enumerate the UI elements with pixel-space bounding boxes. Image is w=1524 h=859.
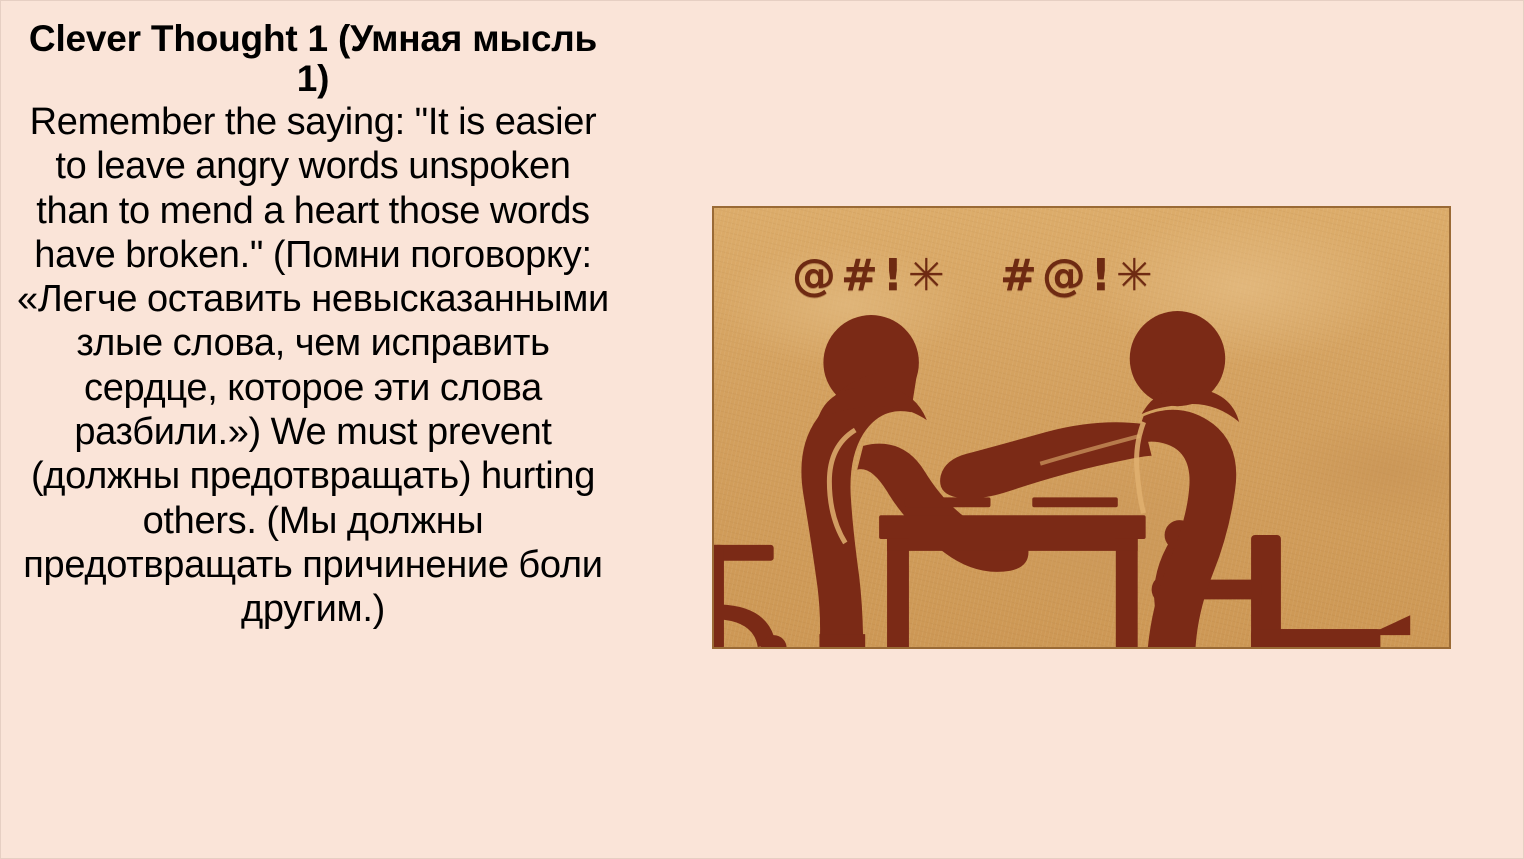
table-icon xyxy=(879,497,1146,647)
page-title: Clever Thought 1 (Умная мысль 1) xyxy=(13,19,613,98)
illustration-photo: @#!✳ #@!✳ xyxy=(712,206,1451,649)
paper-item-right xyxy=(1032,497,1118,507)
text-content-block: Clever Thought 1 (Умная мысль 1) Remembe… xyxy=(13,19,613,631)
swear-symbols-right: #@!✳ xyxy=(1000,250,1158,301)
right-person-figure xyxy=(940,311,1239,647)
swear-symbols-left: @#!✳ xyxy=(792,250,950,301)
slide-canvas: Clever Thought 1 (Умная мысль 1) Remembe… xyxy=(0,0,1524,859)
paper-item-left xyxy=(905,497,991,507)
slide-body-text: Remember the saying: "It is easier to le… xyxy=(13,100,613,631)
chair-left-icon xyxy=(714,545,787,647)
